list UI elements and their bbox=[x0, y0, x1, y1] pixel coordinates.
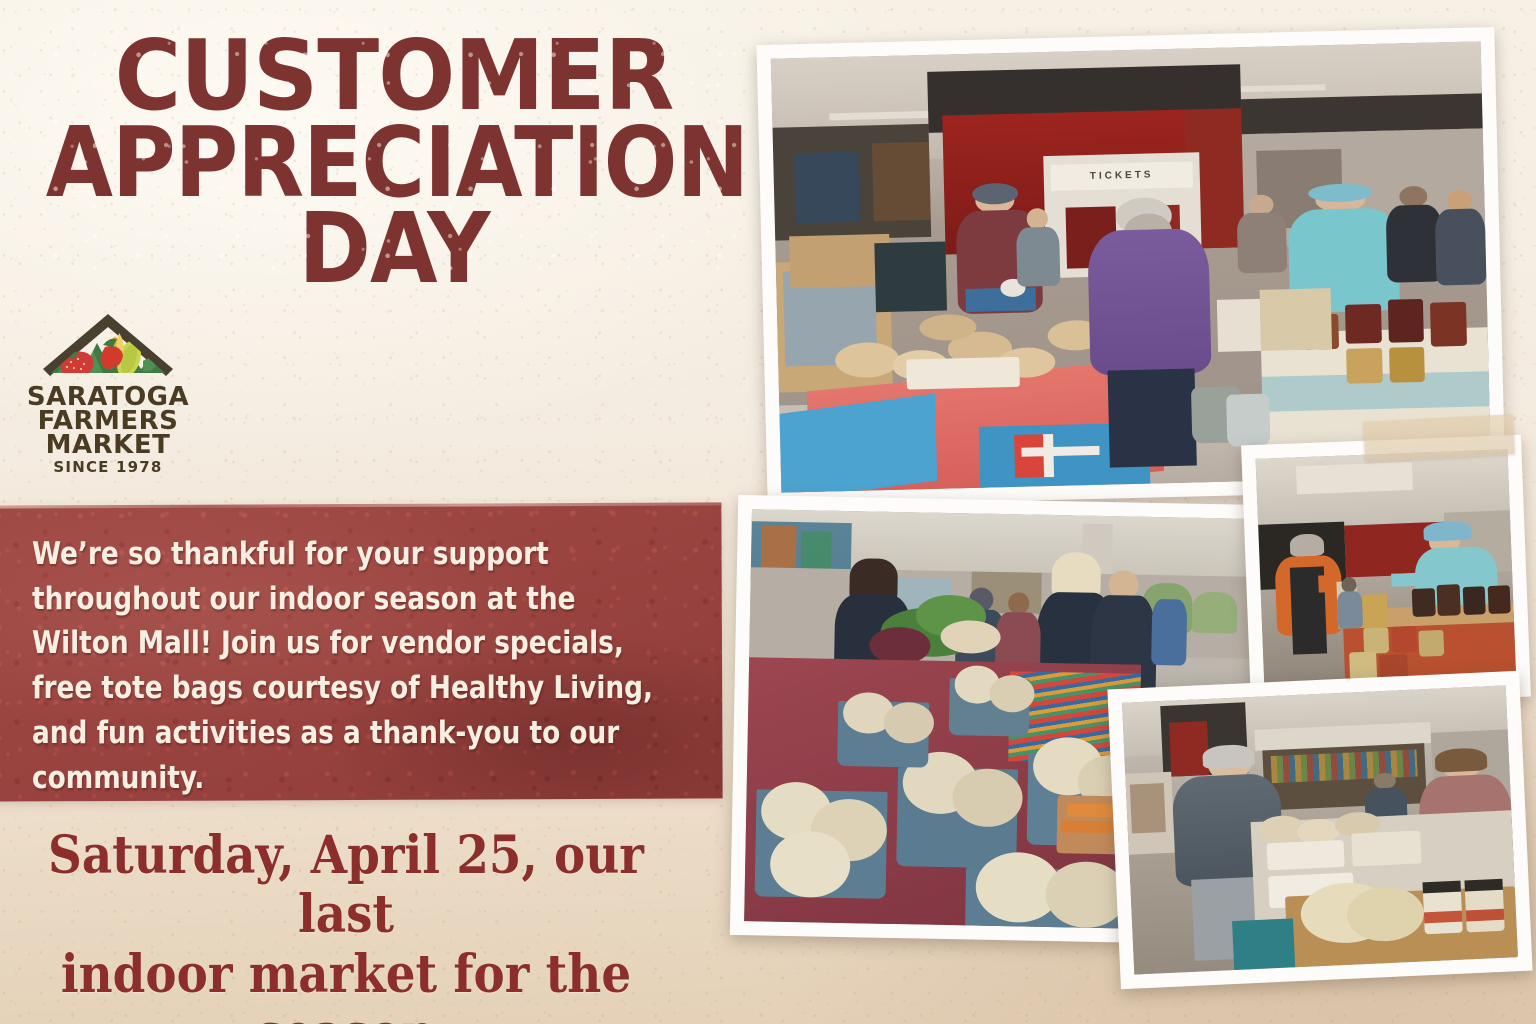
photo-image bbox=[1122, 685, 1518, 974]
logo-tagline: SINCE 1978 bbox=[20, 461, 196, 475]
date-line-1: Saturday, April 25, our last bbox=[40, 826, 652, 945]
logo-name-line-3: MARKET bbox=[20, 433, 196, 457]
logo: SARATOGA FARMERS MARKET SINCE 1978 bbox=[20, 307, 196, 474]
tickets-sign-text: TICKETS bbox=[1050, 161, 1193, 190]
photo-baked-goods-shopper bbox=[1107, 671, 1532, 989]
headline-line-1: CUSTOMER bbox=[30, 34, 758, 117]
body-text: We’re so thankful for your support throu… bbox=[32, 532, 657, 800]
date-line: Saturday, April 25, our last indoor mark… bbox=[40, 826, 652, 1024]
photo-jam-vendor-handoff bbox=[1241, 435, 1531, 708]
photo-image bbox=[1256, 449, 1517, 693]
poster: CUSTOMER APPRECIATION DAY bbox=[0, 0, 1536, 1024]
farm-roof-produce-icon bbox=[33, 307, 183, 385]
headline-line-3: DAY bbox=[44, 207, 744, 290]
date-line-2: indoor market for the season bbox=[40, 945, 652, 1024]
masking-tape-strip bbox=[1363, 414, 1515, 462]
page-title: CUSTOMER APPRECIATION DAY bbox=[44, 34, 744, 290]
